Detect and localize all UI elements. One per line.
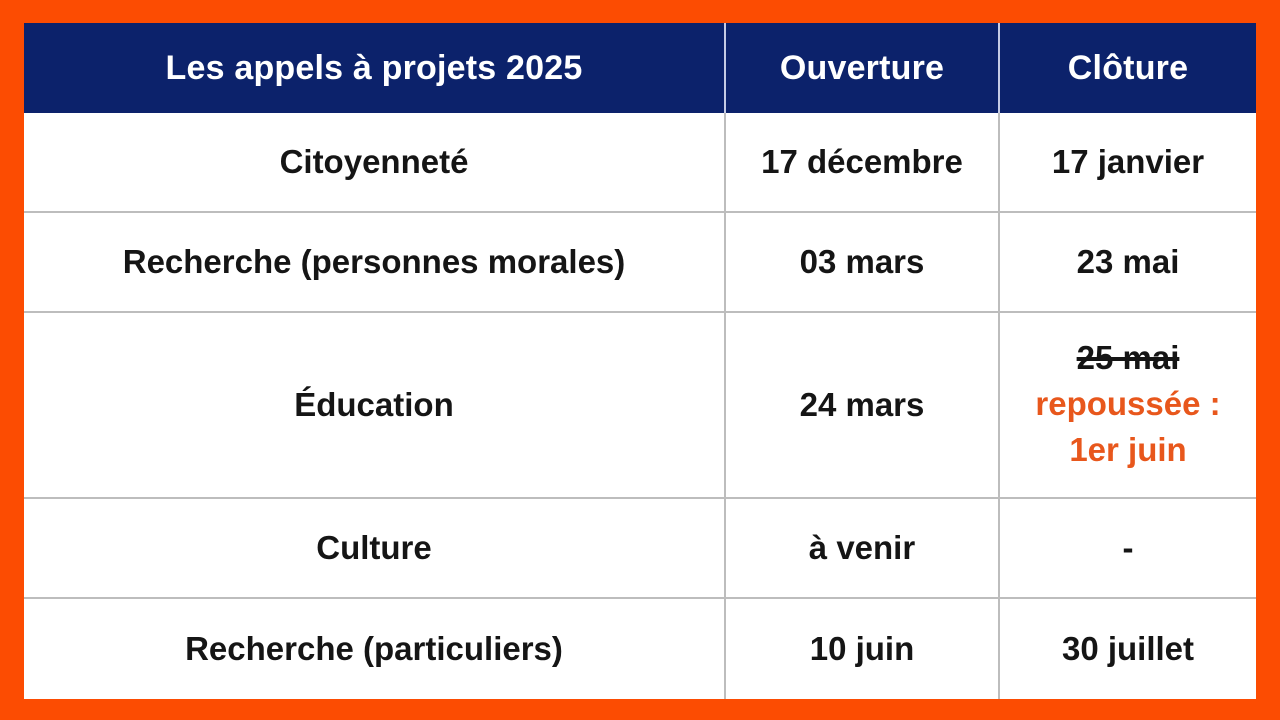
table-row: Culture à venir - (24, 499, 1256, 599)
calls-for-projects-table: Les appels à projets 2025 Ouverture Clôt… (24, 23, 1256, 697)
row-ouverture-date: 24 mars (724, 313, 998, 497)
orange-frame: Les appels à projets 2025 Ouverture Clôt… (0, 0, 1280, 720)
row-program-name: Citoyenneté (24, 113, 724, 211)
row-ouverture-date: 03 mars (724, 213, 998, 311)
row-cloture-date: 17 janvier (998, 113, 1256, 211)
column-header-ouverture: Ouverture (724, 23, 998, 113)
row-cloture-date: 25 mai repoussée : 1er juin (998, 313, 1256, 497)
cancelled-date: 25 mai (1077, 339, 1180, 378)
row-program-name: Culture (24, 499, 724, 597)
column-header-program: Les appels à projets 2025 (24, 23, 724, 113)
table-header-row: Les appels à projets 2025 Ouverture Clôt… (24, 23, 1256, 113)
postponed-label: repoussée : (1035, 384, 1220, 424)
row-cloture-date: 30 juillet (998, 599, 1256, 699)
table-row: Éducation 24 mars 25 mai repoussée : 1er… (24, 313, 1256, 499)
row-program-name: Éducation (24, 313, 724, 497)
table-row: Recherche (particuliers) 10 juin 30 juil… (24, 599, 1256, 699)
column-header-cloture: Clôture (998, 23, 1256, 113)
row-program-name: Recherche (personnes morales) (24, 213, 724, 311)
table-row: Citoyenneté 17 décembre 17 janvier (24, 113, 1256, 213)
row-ouverture-date: 10 juin (724, 599, 998, 699)
row-ouverture-date: 17 décembre (724, 113, 998, 211)
row-ouverture-date: à venir (724, 499, 998, 597)
row-cloture-date: - (998, 499, 1256, 597)
row-program-name: Recherche (particuliers) (24, 599, 724, 699)
row-cloture-date: 23 mai (998, 213, 1256, 311)
table-row: Recherche (personnes morales) 03 mars 23… (24, 213, 1256, 313)
postponed-date: 1er juin (1069, 430, 1186, 470)
